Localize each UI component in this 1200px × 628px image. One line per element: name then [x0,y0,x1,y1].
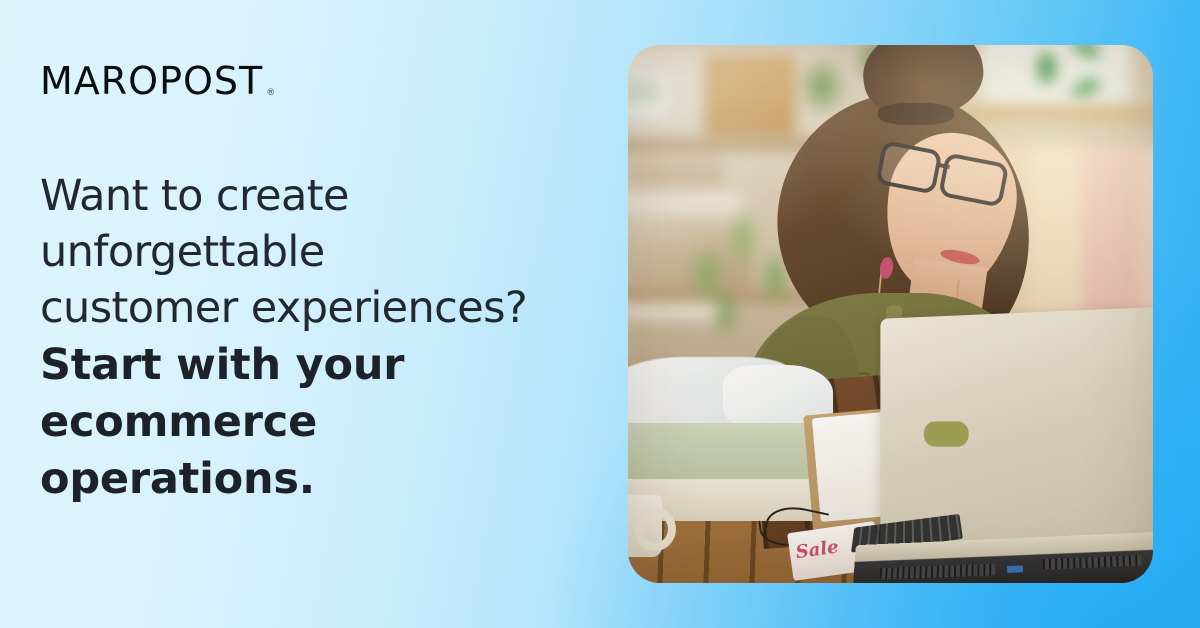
headline-line-1: Want to create [40,168,616,224]
headline: Want to create unforgettable customer ex… [40,168,616,508]
registered-trademark-icon: ® [266,89,275,98]
headline-bold-line-3: operations. [40,451,616,508]
hero-photo: P PRIORITY MAIL FROM: SENDER 1 MAIN ST C… [628,45,1153,583]
headline-bold-block: Start with your ecommerce operations. [40,337,616,508]
laptop [853,295,1153,583]
headline-line-2: unforgettable [40,224,616,280]
sage-gift-box [628,423,810,483]
laptop-logo-icon [924,421,969,447]
sale-tag-text: Sale [794,536,839,563]
laptop-vent [880,564,996,580]
text-column: MAROPOST ® Want to create unforgettable … [38,0,618,628]
headline-bold-line-1: Start with your [40,337,616,394]
maropost-logo: MAROPOST ® [40,62,275,100]
photo-scene: P PRIORITY MAIL FROM: SENDER 1 MAIN ST C… [628,45,1153,583]
headline-line-3: customer experiences? [40,280,616,336]
hair-tie [878,103,954,125]
promo-banner: MAROPOST ® Want to create unforgettable … [0,0,1200,628]
laptop-vent [1043,555,1142,570]
mug [628,495,662,557]
logo-wordmark: MAROPOST [40,62,263,100]
headline-bold-line-2: ecommerce [40,394,616,451]
usb-port-icon [1007,565,1023,572]
